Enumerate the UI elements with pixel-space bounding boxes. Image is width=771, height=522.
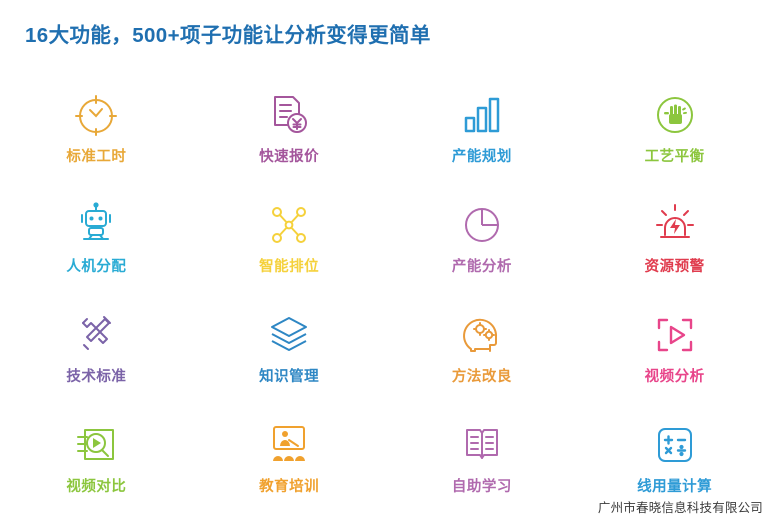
feature-label: 标准工时 bbox=[66, 150, 126, 165]
feature-item-method-improvement[interactable]: 方法改良 bbox=[386, 296, 579, 406]
feature-item-technical-standards[interactable]: 技术标准 bbox=[0, 296, 193, 406]
feature-item-capacity-analysis[interactable]: 产能分析 bbox=[386, 186, 579, 296]
bar-chart-icon bbox=[455, 88, 509, 142]
video-compare-icon bbox=[69, 418, 123, 472]
feature-grid: 标准工时 快速报价 产能规划 bbox=[0, 76, 771, 516]
feature-item-knowledge-management[interactable]: 知识管理 bbox=[193, 296, 386, 406]
feature-label: 方法改良 bbox=[452, 370, 512, 385]
pie-chart-icon bbox=[455, 198, 509, 252]
video-frame-play-icon bbox=[648, 308, 702, 362]
feature-item-video-analysis[interactable]: 视频分析 bbox=[578, 296, 771, 406]
feature-label: 工艺平衡 bbox=[645, 150, 705, 165]
feature-label: 自助学习 bbox=[452, 480, 512, 495]
open-book-icon bbox=[455, 418, 509, 472]
fist-circle-icon bbox=[648, 88, 702, 142]
feature-label: 技术标准 bbox=[66, 370, 126, 385]
alarm-siren-icon bbox=[648, 198, 702, 252]
network-nodes-icon bbox=[262, 198, 316, 252]
feature-label: 视频分析 bbox=[645, 370, 705, 385]
feature-item-self-study[interactable]: 自助学习 bbox=[386, 406, 579, 516]
feature-label: 知识管理 bbox=[259, 370, 319, 385]
feature-label: 线用量计算 bbox=[637, 480, 712, 495]
company-watermark: 广州市春晓信息科技有限公司 bbox=[598, 497, 763, 516]
robot-icon bbox=[69, 198, 123, 252]
feature-label: 智能排位 bbox=[259, 260, 319, 275]
training-board-icon bbox=[262, 418, 316, 472]
calculator-icon bbox=[648, 418, 702, 472]
page-title: 16大功能，500+项子功能让分析变得更简单 bbox=[25, 18, 431, 48]
feature-item-smart-sequencing[interactable]: 智能排位 bbox=[193, 186, 386, 296]
head-gears-icon bbox=[455, 308, 509, 362]
document-yuan-icon bbox=[262, 88, 316, 142]
feature-label: 人机分配 bbox=[66, 260, 126, 275]
feature-item-standard-hours[interactable]: 标准工时 bbox=[0, 76, 193, 186]
feature-item-resource-alert[interactable]: 资源预警 bbox=[578, 186, 771, 296]
feature-label: 产能规划 bbox=[452, 150, 512, 165]
wrench-hammer-icon bbox=[69, 308, 123, 362]
clock-icon bbox=[69, 88, 123, 142]
feature-item-process-balance[interactable]: 工艺平衡 bbox=[578, 76, 771, 186]
layers-icon bbox=[262, 308, 316, 362]
feature-label: 教育培训 bbox=[259, 480, 319, 495]
feature-item-capacity-planning[interactable]: 产能规划 bbox=[386, 76, 579, 186]
feature-item-education-training[interactable]: 教育培训 bbox=[193, 406, 386, 516]
feature-label: 视频对比 bbox=[66, 480, 126, 495]
feature-label: 资源预警 bbox=[645, 260, 705, 275]
feature-label: 快速报价 bbox=[259, 150, 319, 165]
feature-item-quick-quote[interactable]: 快速报价 bbox=[193, 76, 386, 186]
feature-item-man-machine-allocation[interactable]: 人机分配 bbox=[0, 186, 193, 296]
feature-label: 产能分析 bbox=[452, 260, 512, 275]
feature-item-video-comparison[interactable]: 视频对比 bbox=[0, 406, 193, 516]
